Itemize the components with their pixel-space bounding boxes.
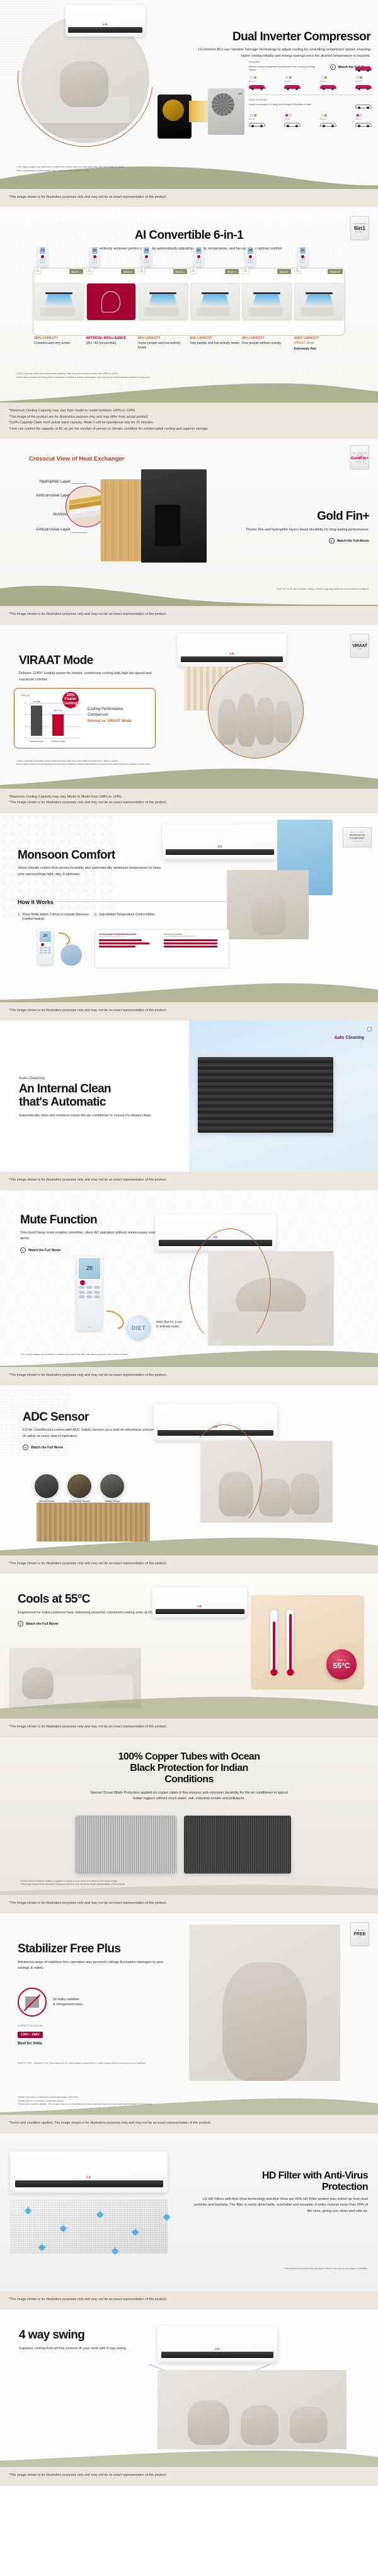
page-title: Cools at 55°C xyxy=(18,1593,160,1606)
compressor-cutaway-illustration xyxy=(157,94,192,139)
family-photo xyxy=(208,663,304,758)
indoor-ac-unit: LG xyxy=(10,2151,168,2193)
fine-print-ai: *124% Capacity Claim from actual rated c… xyxy=(16,372,199,379)
fine-print-stabilizer: *Safety Plus plus is a standard feature … xyxy=(18,2096,244,2107)
room-illustration xyxy=(138,283,188,321)
remote-control-illustration: 20 LG xyxy=(77,1256,102,1331)
remote-icon: 20 xyxy=(298,245,307,266)
watch-movie-link[interactable]: ► Watch the Full Movie xyxy=(20,1247,60,1253)
lg-logo: LG xyxy=(103,23,107,26)
non-inverter-copy: Excess consumption of energy due to freq… xyxy=(249,103,322,106)
indoor-ac-unit: LG xyxy=(163,825,277,860)
mode-tag: Mode 5 xyxy=(277,269,291,274)
orange-arc-decoration xyxy=(189,1228,271,1348)
disclaimer-copper: *The image shown is for illustration pur… xyxy=(0,1895,378,1913)
auto-cleaning-overlay-label: Auto Cleaning xyxy=(335,1036,364,1040)
safety-range-group: SAFETY RANGE 130V - 290V Best for India. xyxy=(18,2024,43,2046)
disclaimer-hd-filter: *The image shown is for illustration pur… xyxy=(0,2291,378,2310)
speed-item: 80 km/h xyxy=(249,113,265,128)
capacity-caption-5: 40% CAPACITYFew people without activity xyxy=(242,336,292,352)
section-stabilizer-free-plus: STABILIZER FREE PLUS Stabilizer Free Plu… xyxy=(0,1913,378,2115)
layer-label-hydrophilic: Hydrophilic Layer xyxy=(13,479,71,484)
layer-label-anticorrosive-bottom: Anticorrosive Layer xyxy=(13,527,71,532)
badge-monsoon: INDIA'S 1st WITH MONSOON COMFORT TECHNOL… xyxy=(343,827,372,847)
step-2: 2. Sub-divided Temperature Control Matri… xyxy=(94,913,220,918)
watch-movie-label: Watch the Full Movie xyxy=(337,539,369,543)
section-body: Special Ocean Black Protection applied o… xyxy=(85,1790,293,1802)
mode-tag: Mode 6* xyxy=(328,269,343,274)
mode-grid: 20 1stClick Mode 1 20 2ndClick Mode 2 20… xyxy=(34,245,344,321)
section-body: Supreme cooling from all four corners of… xyxy=(19,2346,164,2352)
click-indicator: 5thClick xyxy=(242,266,249,273)
inverter-speed-row: 80 km/h 50 km/h 70 km/h 60 km/h xyxy=(249,76,372,90)
section-viraat-mode: FASTER COOLING VIRAAT MODE VIRAAT Mode D… xyxy=(0,625,378,789)
speed-item: 0 km/h xyxy=(284,113,301,128)
page-title: VIRAAT Mode xyxy=(19,654,164,667)
page-title-line-1: 100% Copper Tubes with Ocean xyxy=(44,1751,334,1763)
page-title: Gold Fin+ xyxy=(205,510,369,523)
sensor-group: Current Sensor Temperature Sensor Voltag… xyxy=(34,1474,125,1503)
indoor-ac-unit: LG xyxy=(178,634,286,667)
disclaimer-auto-clean: *The image shown is for illustration pur… xyxy=(0,1172,378,1190)
thermometer-1 xyxy=(270,1609,278,1674)
fine-print-hd: *Test conducted by third party laborator… xyxy=(179,2267,368,2271)
mode-button-circle xyxy=(60,944,82,966)
virus-icon xyxy=(112,2248,118,2254)
speed-item: 80 km/h xyxy=(249,76,265,90)
hd-filter-mesh xyxy=(10,2199,168,2253)
disclaimer-gold-fin: *The image shown is for illustration pur… xyxy=(0,606,378,624)
faster-cooling-callout: 28% Faster Cooling* xyxy=(62,692,79,708)
sensor-current: Current Sensor xyxy=(34,1474,59,1503)
best-for-india-label: Best for India. xyxy=(18,2042,43,2046)
gray-car-icon xyxy=(355,103,372,110)
divider xyxy=(57,902,226,902)
section-body: Advanced range of stabilizer free operat… xyxy=(18,1960,168,1972)
outdoor-ac-unit: LG xyxy=(208,88,244,135)
chart-ylabel: Time (m) xyxy=(21,694,30,697)
copper-coil-left xyxy=(76,1816,176,1874)
step-1: 1. Press Mode button 2 times to activate… xyxy=(18,913,92,923)
virus-icon xyxy=(132,2230,138,2235)
matrix-conventional: Conventional Dehumidification Mode 7 Lev… xyxy=(99,933,160,965)
speed-item: 70 km/h xyxy=(320,76,336,90)
hill-decoration xyxy=(0,160,378,189)
copper-coil-fins xyxy=(101,479,141,561)
room-illustration xyxy=(190,283,241,321)
ai-brain-icon xyxy=(101,291,120,312)
speed-item: 50 km/h xyxy=(284,76,301,90)
evaporator-coil-illustration xyxy=(198,1057,333,1133)
virus-icon xyxy=(39,2245,45,2250)
speed-item: 60 km/h xyxy=(355,76,372,90)
disclaimer-mute: *The image shown is for illustration pur… xyxy=(0,1367,378,1385)
page-title: 4 way swing xyxy=(19,2328,164,2342)
section-kicker: Auto Cleaning xyxy=(19,1076,169,1080)
disclaimer-monsoon: *The image shown is for illustration pur… xyxy=(0,1002,378,1021)
disclaimer-adc: *The image shown is for illustration pur… xyxy=(0,1555,378,1574)
click-indicator: 1stClick xyxy=(34,266,41,273)
bar-viraat-mode: 5m 27s VIRAAT Mode xyxy=(52,714,64,736)
capacity-caption-1: 100% CAPACITYCrowded and very active xyxy=(34,336,84,352)
inverter-comparison-panel: Inverter Efficient energy management by … xyxy=(243,60,378,128)
indoor-ac-unit: LG xyxy=(66,5,145,37)
thermometer-illustration-card: Cools at 55°C xyxy=(251,1595,364,1690)
safety-range-label: SAFETY RANGE xyxy=(18,2024,43,2027)
temperature-control-matrix: Conventional Dehumidification Mode 7 Lev… xyxy=(94,929,229,968)
section-adc-sensor: ADC Sensor LG Air Conditioners comes wit… xyxy=(0,1385,378,1555)
remote-icon: 20 xyxy=(142,245,151,266)
speed-item: 0 km/h xyxy=(355,113,372,128)
section-dual-inverter: LG Dual Inverter Compressor LG Inverter … xyxy=(0,0,378,189)
fine-print-dual: *T&C Apply. Images are illustrative in n… xyxy=(16,166,174,173)
badge-stabilizer: STABILIZER FREE PLUS xyxy=(350,1922,369,1946)
mode-tag: Mode 4 xyxy=(225,269,239,274)
page-title: Mute Function xyxy=(20,1213,159,1227)
what-is-this-note: WHAT'S THIS : Stabilizer Free Plus makes… xyxy=(18,2062,207,2066)
click-indicator: 3rdClick xyxy=(138,266,145,273)
outdoor-unit-cutaway xyxy=(141,469,207,563)
disclaimer-viraat: *Maximum Cooling Capacity may vary Model… xyxy=(0,789,378,813)
virus-icon xyxy=(60,2226,66,2231)
indoor-ac-unit: LG xyxy=(152,1588,247,1618)
bar-normal-mode: 7m 35s Normal Mode xyxy=(31,706,42,736)
mode-column-3[interactable]: 20 3rdClick Mode 3 xyxy=(138,245,188,321)
fine-print-copper: *Ocean Black Protection feature is appli… xyxy=(20,1880,285,1887)
play-icon: ► xyxy=(20,1247,26,1253)
chart-bars: 7m 35s Normal Mode 5m 27s VIRAAT Mode xyxy=(31,699,64,736)
mode-column-5[interactable]: 20 5thClick Mode 5 xyxy=(242,245,292,321)
section-mute-function: Mute Function One-touch beep mute enable… xyxy=(0,1191,378,1367)
watch-movie-link[interactable]: ► Watch the Full Movie xyxy=(18,1621,58,1627)
sensor-temperature: Temperature Sensor xyxy=(67,1474,92,1503)
lg-logo: LG xyxy=(215,2347,219,2350)
click-indicator: 6thClick xyxy=(294,266,301,273)
fine-print-mute: *T&C Apply. Images are illustrative in n… xyxy=(20,1353,197,1357)
virus-icon xyxy=(164,2214,169,2220)
product-feature-page: LG Dual Inverter Compressor LG Inverter … xyxy=(0,0,378,2486)
lifestyle-photo xyxy=(227,870,309,939)
remote-illustration: 20 xyxy=(38,929,53,965)
watch-movie-link[interactable]: ► Watch the Full Movie xyxy=(329,538,369,544)
page-title: AI Convertible 6-in-1 xyxy=(0,229,378,242)
diet-button-icon: DIET xyxy=(126,1315,151,1341)
page-title: ADC Sensor xyxy=(23,1411,160,1424)
capacity-caption-4: 60% CAPACITYFew people and low-activity … xyxy=(190,336,241,352)
watch-movie-label: Watch the Full Movie xyxy=(26,1622,58,1626)
section-body: Engineered for India's extreme heat, del… xyxy=(18,1610,160,1617)
room-illustration xyxy=(34,283,84,321)
layer-label-anticorrosive-top: Anticorrosive Layer xyxy=(13,493,71,498)
hill-decoration xyxy=(0,973,378,1002)
page-title: Dual Inverter Compressor xyxy=(194,30,370,43)
mode-column-2[interactable]: 20 2ndClick Mode 2 xyxy=(86,245,137,321)
red-car-icon xyxy=(355,66,372,72)
fine-print-gold: *Gold Fin+ is an anti corrosive coating.… xyxy=(180,588,369,592)
non-inverter-speed-row: 80 km/h 0 km/h 60 km/h 0 km/h xyxy=(249,113,372,128)
room-illustration xyxy=(242,283,292,321)
page-title-line-1: HD Filter with Anti-Virus xyxy=(192,2170,368,2182)
woman-with-remote-photo xyxy=(189,1925,340,2081)
leader-line xyxy=(72,483,87,484)
no-stabilizer-icon xyxy=(18,1988,47,2017)
family-room-photo xyxy=(157,2370,346,2449)
section-body: Automatically dries any moisture inside … xyxy=(19,1113,169,1119)
click-indicator: 2ndClick xyxy=(86,266,93,273)
chart-caption: Cooling Performance Comparison: Normal v… xyxy=(88,694,132,742)
lg-logo: LG xyxy=(213,1235,217,1239)
camera-icon xyxy=(367,1027,372,1031)
safety-range-value: 130V - 290V xyxy=(18,2032,43,2038)
mode-tag: Mode 2 xyxy=(121,269,135,274)
ocean-black-coil-right xyxy=(184,1816,291,1874)
section-ai-convertible: AI CONVERTIBLE 6in1 COOLING AI Convertib… xyxy=(0,207,378,403)
thermometer-2 xyxy=(286,1609,294,1674)
remote-icon: 20 xyxy=(194,245,203,266)
watch-movie-label: Watch the Full Movie xyxy=(28,1249,60,1252)
leader-line xyxy=(72,532,87,533)
section-body: LG Air Conditioners comes with ADC Safet… xyxy=(23,1428,160,1440)
lg-logo: LG xyxy=(229,652,234,655)
chart-plot-area: Time (m) 8 6 4 2 7m 35s Normal Mode xyxy=(21,694,81,742)
layer-label-aluminum: Aluminum xyxy=(13,512,71,517)
page-title-line-1: An Internal Clean xyxy=(19,1082,169,1096)
badge-gold-fin: ANTI CORROSION COATING GoldFin+ PROTECTI… xyxy=(350,445,369,469)
auto-clean-visual: Auto Cleaning xyxy=(189,1021,378,1172)
badge-viraat: FASTER COOLING VIRAAT MODE xyxy=(350,634,369,658)
capacity-caption-6: 124%* CAPACITYVIRAAT ModeExtremely Hot xyxy=(294,336,345,352)
pcb-board-illustration xyxy=(37,1503,150,1542)
remote-icon: 20 xyxy=(246,245,255,266)
section-hd-filter: LG HD Filter with Anti-Virus Protection … xyxy=(0,2134,378,2291)
disclaimer-stabilizer: *Terms and condition applied. The image … xyxy=(0,2115,378,2133)
section-4-way-swing: 4 way swing Supreme cooling from all fou… xyxy=(0,2310,378,2467)
disclaimer-cools55: *The image shown is for illustration pur… xyxy=(0,1719,378,1737)
play-icon: ► xyxy=(23,1445,28,1450)
sofa-lifestyle-photo xyxy=(9,1648,141,1709)
mode-column-6[interactable]: 20 6thClick Mode 6* xyxy=(294,245,345,321)
inverter-copy: Efficient energy management by keeping t… xyxy=(249,66,322,72)
capacity-caption-3: 80% CAPACITYSome people and low-activity… xyxy=(138,336,188,352)
no-stabilizer-label: No bulky stabilizer & unorganized wires. xyxy=(53,1997,83,2008)
lg-logo: LG xyxy=(217,845,222,848)
speed-item: 60 km/h xyxy=(320,113,336,128)
how-it-works-title: How It Works xyxy=(18,899,54,905)
fine-print-viraat: *124% Capacity Claim from actual rated c… xyxy=(16,760,199,767)
section-body: LG HD Filters with Anti-Virus technology… xyxy=(192,2197,368,2215)
mode-column-1[interactable]: 20 1stClick Mode 1 xyxy=(34,245,84,321)
page-title-line-2: Black Protection for Indian xyxy=(44,1763,334,1774)
bar-category-label: Normal Mode xyxy=(30,740,43,743)
virus-icon xyxy=(97,2212,103,2218)
page-title-line-2: that's Automatic xyxy=(19,1096,169,1109)
sensor-voltage: Voltage Sensor xyxy=(100,1474,125,1503)
callout-value: 28% Faster Cooling* xyxy=(62,694,79,706)
bar-category-label: VIRAAT Mode xyxy=(51,740,66,743)
crosscut-title: Crosscut View of Heat Exchanger xyxy=(29,455,124,462)
hold-diet-instruction: Hold Diet for 3 sec to activate mute. xyxy=(156,1320,207,1330)
mode-tag: Mode 1 xyxy=(69,269,83,274)
remote-icon: 20 xyxy=(38,245,47,266)
watch-movie-label: Watch the Full Movie xyxy=(31,1446,63,1450)
section-copper-tubes: 100% Copper Tubes with Ocean Black Prote… xyxy=(0,1737,378,1895)
play-icon: ► xyxy=(329,538,335,544)
section-body: Delivers 124%* cooling power for instant… xyxy=(19,671,164,683)
lg-logo: LG xyxy=(197,1605,202,1608)
chart-y-ticks: 8 6 4 2 xyxy=(21,703,27,740)
play-icon: ► xyxy=(18,1621,23,1627)
page-title: Monsoon Comfort xyxy=(18,849,166,862)
section-gold-fin: ANTI CORROSION COATING GoldFin+ PROTECTI… xyxy=(0,439,378,606)
matrix-monsoon: Monsoon Comfort 7 Level Detailed Tempera… xyxy=(164,933,225,965)
disclaimer-ai-convertible: *Maximum Cooling Capacity may vary from … xyxy=(0,403,378,439)
virus-icon xyxy=(25,2208,31,2214)
page-title-line-3: Conditions xyxy=(44,1774,334,1785)
indoor-ac-unit: LG xyxy=(157,2326,277,2362)
page-title-line-2: Protection xyxy=(192,2182,368,2193)
page-title: Stabilizer Free Plus xyxy=(18,1942,168,1955)
remote-icon: 20 xyxy=(90,245,100,266)
cools-at-55-seal: Cools at 55°C xyxy=(326,1649,357,1680)
section-auto-clean: Auto Cleaning Auto Cleaning An Internal … xyxy=(0,1021,378,1172)
bar-value-label: 5m 27s xyxy=(54,709,62,712)
section-body: Thicker fins and hydrophilic layers boos… xyxy=(205,527,369,534)
mode-tag: Mode 3 xyxy=(173,269,187,274)
section-body: LG Inverter ACs use Variable Tonnage Tec… xyxy=(194,47,370,59)
mode-column-4[interactable]: 20 4thClick Mode 4 xyxy=(190,245,241,321)
orange-arc-decoration xyxy=(186,1424,262,1531)
section-body: One-touch beep mute enables smoother, si… xyxy=(20,1230,159,1242)
lg-logo: LG xyxy=(86,2175,91,2178)
bar-value-label: 7m 35s xyxy=(33,701,40,703)
click-indicator: 4thClick xyxy=(190,266,197,273)
section-body: Smart climate control that senses humidi… xyxy=(18,866,166,878)
room-illustration xyxy=(294,283,345,321)
hill-decoration xyxy=(0,577,378,606)
capacity-caption-row: 100% CAPACITYCrowded and very active ART… xyxy=(34,336,344,352)
lg-logo: LG xyxy=(213,1425,217,1428)
cooling-performance-chart: Time (m) 8 6 4 2 7m 35s Normal Mode xyxy=(14,688,156,748)
stabilizer-box-icon xyxy=(25,1996,39,2008)
section-monsoon-comfort: INDIA'S 1st WITH MONSOON COMFORT TECHNOL… xyxy=(0,813,378,1002)
disclaimer-dual-inverter: *The image shown is for illustration pur… xyxy=(0,189,378,207)
no-stabilizer-group: No bulky stabilizer & unorganized wires. xyxy=(18,1988,83,2017)
ai-brain-card xyxy=(86,283,137,321)
section-cools-at-55: Cools at 55°C Engineered for India's ext… xyxy=(0,1574,378,1719)
disclaimer-swing: *The image shown is for illustration pur… xyxy=(0,2467,378,2485)
capacity-caption-2: ARTIFICIAL INTELLIGENCE(AI+ / AI Convert… xyxy=(86,336,137,352)
watch-movie-link[interactable]: ► Watch the Full Movie xyxy=(23,1445,63,1450)
